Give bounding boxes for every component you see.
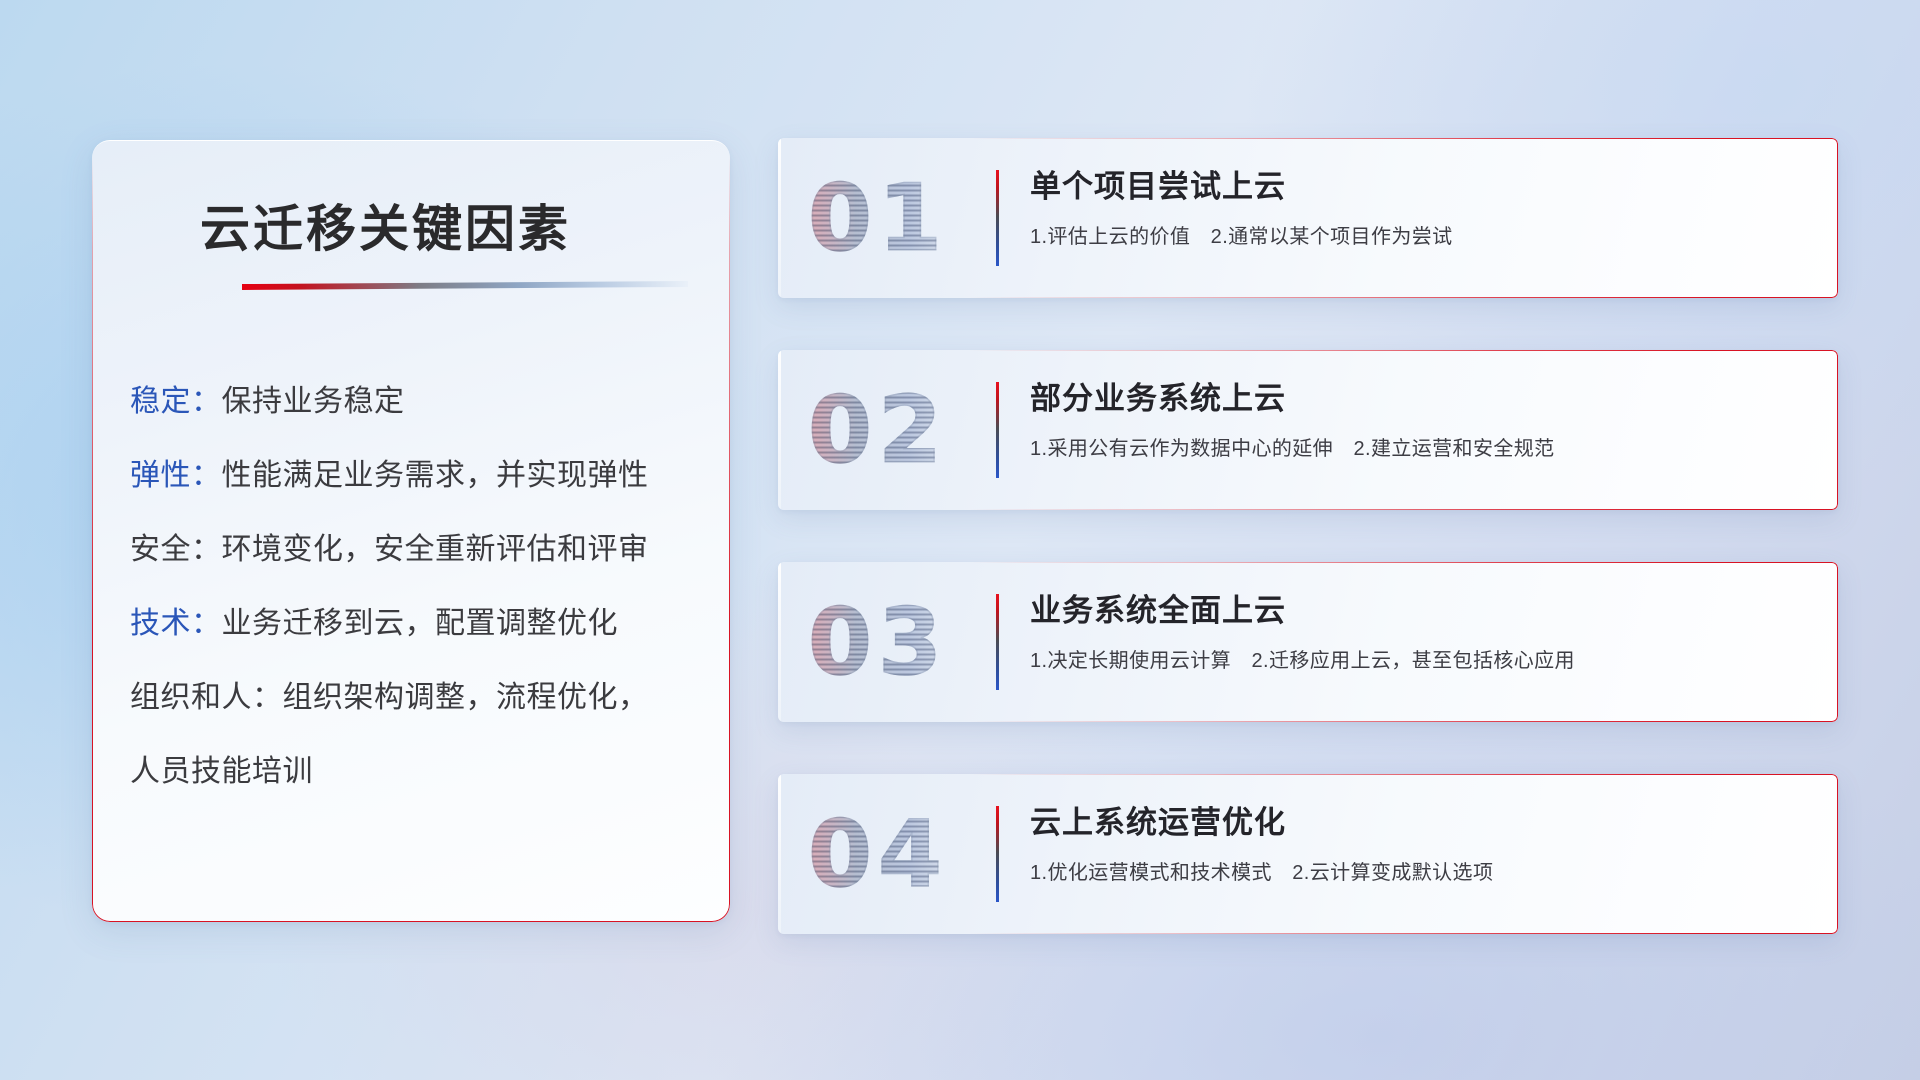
factor-key: 技术： [130,607,222,640]
migration-steps-list: 01 单个项目尝试上云 1.评估上云的价值 2.通常以某个项目作为尝试 02 部… [778,138,1838,934]
factor-key: 安全： [130,533,222,566]
step-title: 业务系统全面上云 [1030,592,1804,629]
factor-value: 人员技能培训 [130,755,313,788]
step-number: 03 [808,589,948,696]
step-card[interactable]: 01 单个项目尝试上云 1.评估上云的价值 2.通常以某个项目作为尝试 [778,138,1838,298]
factor-row: 组织和人：组织架构调整，流程优化， [130,683,702,713]
step-card-body: 部分业务系统上云 1.采用公有云作为数据中心的延伸 2.建立运营和安全规范 [1030,380,1804,461]
step-title: 部分业务系统上云 [1030,380,1804,417]
factor-list: 稳定：保持业务稳定 弹性：性能满足业务需求，并实现弹性 安全：环境变化，安全重新… [130,387,702,787]
step-title: 云上系统运营优化 [1030,804,1804,841]
factor-key: 稳定： [130,385,222,418]
accent-bar-icon [996,806,999,902]
step-description: 1.优化运营模式和技术模式 2.云计算变成默认选项 [1030,856,1804,885]
step-card[interactable]: 03 业务系统全面上云 1.决定长期使用云计算 2.迁移应用上云，甚至包括核心应… [778,562,1838,722]
factor-value: 性能满足业务需求，并实现弹性 [222,459,649,492]
step-card-body: 单个项目尝试上云 1.评估上云的价值 2.通常以某个项目作为尝试 [1030,168,1804,249]
factor-row: 稳定：保持业务稳定 [130,387,702,417]
factor-value: 组织架构调整，流程优化， [283,681,649,714]
factor-value: 保持业务稳定 [222,385,405,418]
factor-row: 弹性：性能满足业务需求，并实现弹性 [130,461,702,491]
factor-value: 业务迁移到云，配置调整优化 [222,607,619,640]
step-card[interactable]: 02 部分业务系统上云 1.采用公有云作为数据中心的延伸 2.建立运营和安全规范 [778,350,1838,510]
step-number: 02 [808,377,948,484]
slide-canvas: 云迁移关键因素 稳定：保持业务稳定 弹性：性能满足业务需求，并实现弹性 安全：环… [0,0,1920,1080]
accent-bar-icon [996,170,999,266]
factor-value: 环境变化，安全重新评估和评审 [222,533,649,566]
factor-row: 技术：业务迁移到云，配置调整优化 [130,609,702,639]
key-factors-panel: 云迁移关键因素 稳定：保持业务稳定 弹性：性能满足业务需求，并实现弹性 安全：环… [92,140,730,922]
step-title: 单个项目尝试上云 [1030,168,1804,205]
step-number: 04 [808,801,948,908]
page-title: 云迁移关键因素 [200,189,571,261]
step-card-body: 业务系统全面上云 1.决定长期使用云计算 2.迁移应用上云，甚至包括核心应用 [1030,592,1804,673]
factor-row-continuation: 人员技能培训 [130,757,702,787]
step-description: 1.评估上云的价值 2.通常以某个项目作为尝试 [1030,220,1804,249]
step-description: 1.采用公有云作为数据中心的延伸 2.建立运营和安全规范 [1030,432,1804,461]
accent-bar-icon [996,594,999,690]
factor-key: 组织和人： [130,681,283,714]
factor-row: 安全：环境变化，安全重新评估和评审 [130,535,702,565]
step-card-body: 云上系统运营优化 1.优化运营模式和技术模式 2.云计算变成默认选项 [1030,804,1804,885]
title-underline-decoration [242,281,688,290]
factor-key: 弹性： [130,459,222,492]
step-number: 01 [808,165,948,272]
accent-bar-icon [996,382,999,478]
step-card[interactable]: 04 云上系统运营优化 1.优化运营模式和技术模式 2.云计算变成默认选项 [778,774,1838,934]
step-description: 1.决定长期使用云计算 2.迁移应用上云，甚至包括核心应用 [1030,644,1804,673]
